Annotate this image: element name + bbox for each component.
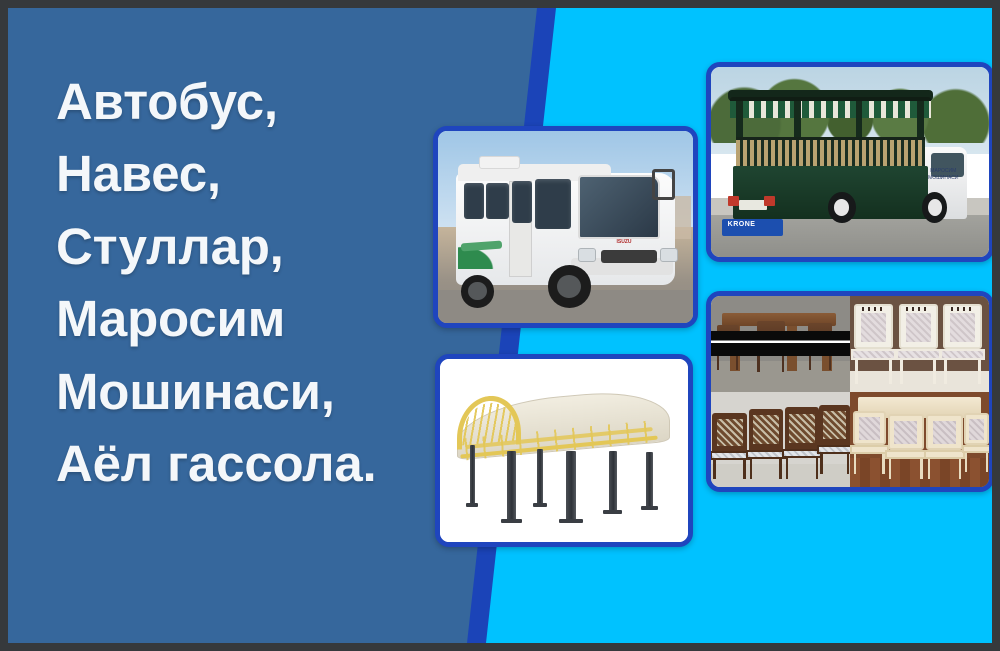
- chair: [964, 413, 989, 472]
- chair-seat: [940, 349, 985, 360]
- canopy-render-card: [435, 354, 693, 547]
- bus-rear-wheel: [461, 275, 494, 308]
- chairs-collage-card: [706, 291, 992, 492]
- collage-divider-bars: [711, 331, 850, 356]
- chair-leg: [900, 360, 903, 384]
- chair-leg: [959, 459, 962, 479]
- chair-back: [926, 414, 962, 450]
- truck-rear-wheel: [828, 192, 856, 222]
- chair-back: [943, 304, 982, 349]
- bus-side-window: [535, 179, 571, 229]
- chair-leg: [757, 355, 760, 372]
- ceremony-truck-photo: МАРОСИМ МОШИНАСИ KRONE: [711, 67, 989, 257]
- chair: [749, 409, 784, 480]
- chair-seat: [924, 450, 966, 459]
- truck-decorative-railing: [736, 137, 925, 169]
- truck-striped-canopy: [730, 97, 930, 118]
- bus-headlight: [660, 248, 678, 261]
- chair-lattice-carving: [789, 414, 815, 443]
- chair-leg: [944, 360, 947, 384]
- canopy-post: [537, 449, 543, 504]
- chair-back: [712, 413, 747, 452]
- chair-leg: [750, 459, 753, 479]
- chair-back: [853, 411, 886, 446]
- bus-side-window: [464, 183, 484, 219]
- chair: [926, 414, 962, 479]
- truck-door-text-line1: МАРОСИМ: [928, 168, 958, 176]
- chair-leg: [928, 459, 931, 479]
- bus-photo: ISUZU: [438, 131, 693, 323]
- chair-seat: [817, 445, 850, 454]
- chair-crest-carving: [951, 307, 975, 311]
- truck-licence-plate: [739, 200, 767, 210]
- headline-line-6: Аёл гассола.: [56, 428, 476, 500]
- canopy-post: [609, 451, 617, 511]
- truck-front-wheel: [922, 192, 947, 222]
- collage-panel-white-carved-chairs: [850, 296, 989, 392]
- chair-leg: [736, 355, 738, 370]
- chair-leg: [809, 355, 811, 371]
- chair-back-upholstery: [861, 313, 886, 342]
- headline-line-4: Маросим: [56, 283, 476, 355]
- canopy-post: [507, 451, 516, 521]
- truck-door-text: МАРОСИМ МОШИНАСИ: [928, 168, 958, 183]
- chair-leg: [933, 360, 936, 384]
- canopy-post: [646, 452, 653, 507]
- chair-leg: [779, 459, 782, 479]
- chair-seat: [711, 451, 750, 460]
- headline-line-1: Автобус,: [56, 66, 476, 138]
- truck-taillight: [728, 196, 739, 206]
- chair-leg: [847, 454, 849, 474]
- chair-leg: [855, 360, 858, 384]
- canopy-render: [440, 359, 688, 542]
- page-title: Автобус, Навес, Стуллар, Маросим Мошинас…: [56, 66, 476, 500]
- chair-lattice-carving: [753, 415, 779, 444]
- chair: [712, 413, 747, 480]
- chair-back-upholstery: [950, 313, 975, 342]
- chair: [853, 411, 886, 474]
- bus-mirror: [652, 169, 675, 200]
- chair-leg: [713, 460, 716, 479]
- chair-leg: [786, 458, 789, 479]
- poster-image: Автобус, Навес, Стуллар, Маросим Мошинас…: [0, 0, 1000, 651]
- headline-line-2: Навес,: [56, 138, 476, 210]
- chair-seat: [851, 349, 896, 360]
- chair-seat: [850, 445, 889, 454]
- collage-panel-cream-chairs: [850, 392, 989, 488]
- truck-taillight: [764, 196, 775, 206]
- bus-side-window: [512, 181, 532, 223]
- chair-back-upholstery: [933, 421, 956, 444]
- chair: [854, 304, 893, 384]
- chair-leg: [978, 360, 981, 384]
- bus-roof-ac-unit: [479, 156, 520, 169]
- chair-seat: [885, 450, 927, 459]
- chair-leg: [743, 460, 746, 479]
- truck-door-text-line2: МОШИНАСИ: [928, 175, 958, 183]
- chair-leg: [782, 355, 785, 372]
- chair-back: [964, 413, 989, 446]
- chair-back: [819, 405, 850, 445]
- truck-bumper-text: KRONE: [728, 221, 756, 228]
- canopy-post: [566, 451, 576, 521]
- chair-seat: [746, 450, 786, 459]
- chair-back: [785, 407, 820, 449]
- bus-windshield: [578, 175, 660, 238]
- chair-back: [888, 414, 924, 450]
- chair-leg: [889, 459, 892, 479]
- chair-leg: [717, 355, 719, 370]
- poster-canvas: Автобус, Навес, Стуллар, Маросим Мошинас…: [8, 8, 992, 643]
- chair-back-upholstery: [906, 313, 931, 342]
- chair: [785, 407, 820, 480]
- bus-front-wheel: [548, 265, 591, 307]
- chair-back-upholstery: [969, 419, 984, 440]
- chair: [899, 304, 938, 384]
- bus-headlight: [578, 248, 596, 261]
- collage-panel-dark-lattice-chairs: [711, 392, 850, 488]
- chair-back: [749, 409, 784, 450]
- canopy-post: [470, 445, 475, 504]
- chair-crest-carving: [862, 307, 886, 311]
- chairs-collage: [711, 296, 989, 487]
- chair-back-upholstery: [859, 417, 880, 439]
- chair-lattice-carving: [717, 419, 743, 446]
- headline-line-3: Стуллар,: [56, 211, 476, 283]
- bus-grille: [601, 250, 657, 263]
- headline-line-5: Мошинаси,: [56, 356, 476, 428]
- chair-leg: [820, 454, 822, 474]
- chair-leg: [965, 453, 967, 471]
- chair-leg: [920, 459, 923, 479]
- chair-leg: [816, 458, 819, 479]
- chair-seat: [896, 349, 941, 360]
- collage-panel-dark-wood-set: [711, 296, 850, 392]
- chair-leg: [986, 453, 988, 471]
- chair-back: [854, 304, 893, 349]
- bus-side-window: [486, 183, 509, 219]
- chair: [943, 304, 982, 384]
- chair-back: [899, 304, 938, 349]
- chair-back-upholstery: [894, 421, 917, 444]
- chair-leg: [854, 454, 857, 474]
- chair: [888, 414, 924, 479]
- chair: [819, 405, 850, 474]
- chair-leg: [829, 355, 831, 371]
- bus-brand-badge: ISUZU: [617, 239, 632, 245]
- chair-crest-carving: [906, 307, 930, 311]
- ceremony-truck-photo-card: МАРОСИМ МОШИНАСИ KRONE: [706, 62, 992, 262]
- chair-lattice-carving: [823, 411, 846, 439]
- bus-photo-card: ISUZU: [433, 126, 698, 328]
- chair-leg: [889, 360, 892, 384]
- chair-seat: [962, 445, 989, 453]
